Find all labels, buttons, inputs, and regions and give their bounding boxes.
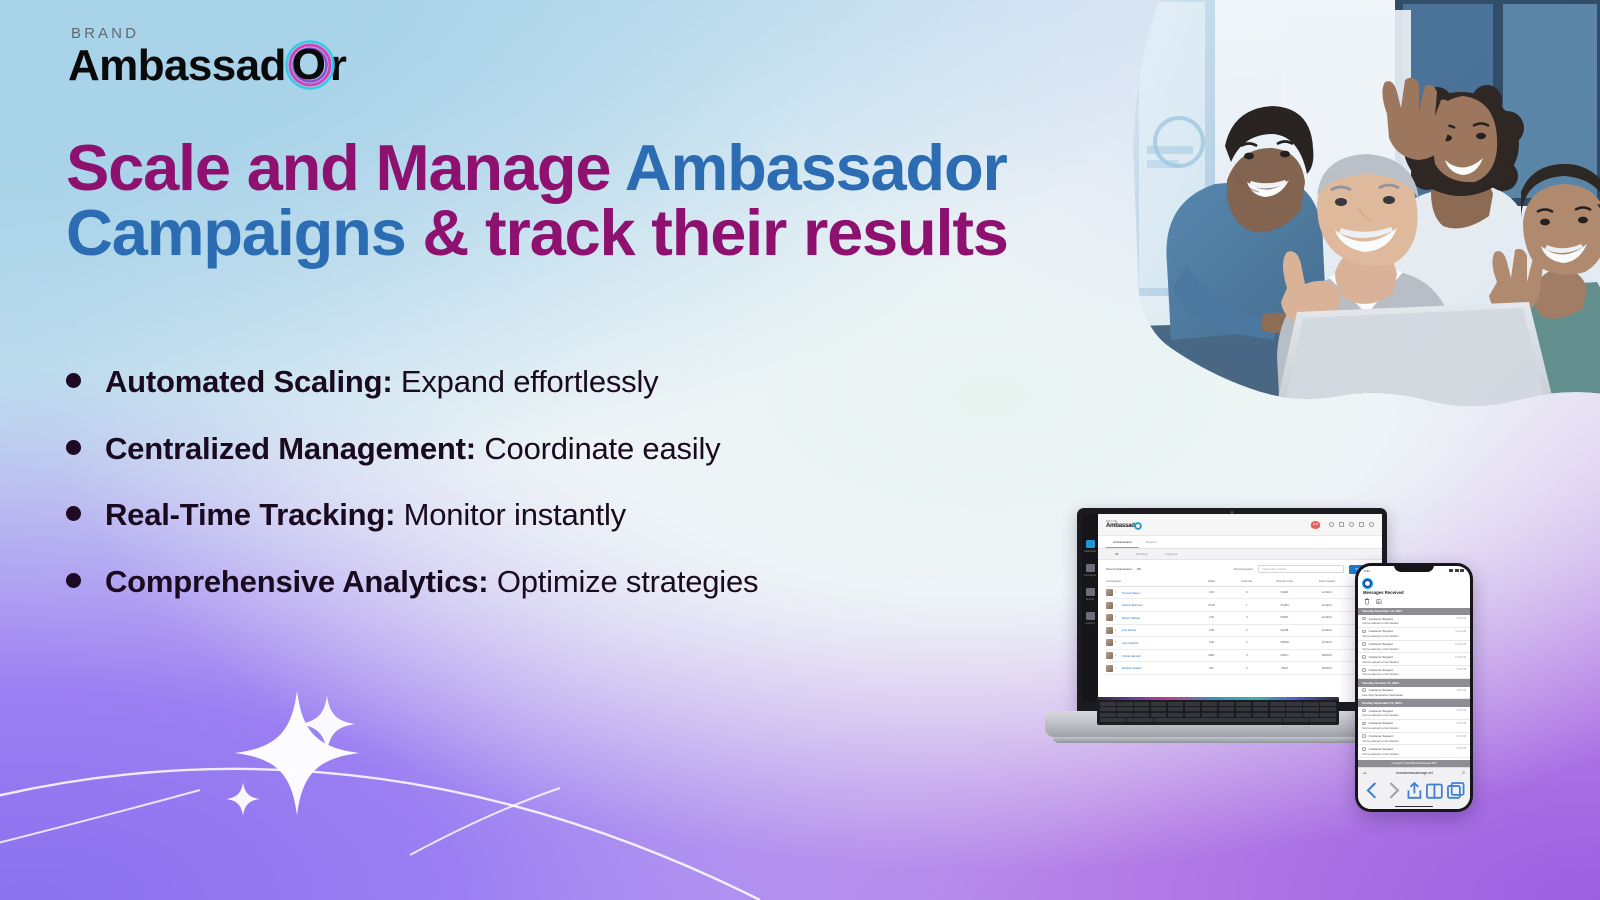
- key: [1202, 713, 1218, 717]
- message-time: 4:20 PM: [1456, 722, 1466, 725]
- compose-icon[interactable]: [1376, 598, 1382, 605]
- message-from: Customer Support: [1369, 617, 1454, 621]
- message-preview: You've earned a commission: [1362, 647, 1466, 651]
- row-avatar-cell: 7: [1106, 665, 1122, 672]
- tabs-icon[interactable]: [1445, 780, 1466, 801]
- key: [1253, 702, 1269, 706]
- home-indicator: [1358, 804, 1470, 809]
- message-from: Customer Support: [1369, 642, 1452, 646]
- message-preview: You've earned a commission: [1362, 739, 1466, 743]
- row-date: 09/20/21: [1306, 654, 1348, 657]
- sidebar-label-analytics: Analytics: [1082, 622, 1098, 625]
- message-from: Customer Support: [1369, 734, 1454, 738]
- app-controls: Total Ambassadors 54 All Ambassador Sear…: [1098, 560, 1382, 578]
- col-wallet: Wallet: [1193, 580, 1231, 583]
- message-preview: You've earned a commission: [1362, 621, 1466, 625]
- team-photo: [1131, 0, 1600, 436]
- key: [1185, 702, 1201, 706]
- phone-app-logo[interactable]: [1358, 575, 1470, 590]
- laptop-screen: Dashboard Campaigns Reports Analytics BR…: [1082, 514, 1382, 702]
- globe-icon[interactable]: [1329, 522, 1334, 527]
- select-radio[interactable]: [1362, 668, 1366, 672]
- message-time: 4:20 PM: [1456, 747, 1466, 750]
- list-item-label: Centralized Management:: [105, 431, 476, 466]
- row-wallet: 0.00: [1193, 616, 1231, 619]
- status-time: 9:41: [1364, 569, 1370, 573]
- select-radio[interactable]: [1362, 709, 1366, 713]
- list-item-text: Real-Time Tracking: Monitor instantly: [105, 497, 626, 533]
- app-logo-ring-icon: [1135, 523, 1141, 529]
- laptop-lid: Dashboard Campaigns Reports Analytics BR…: [1077, 508, 1387, 713]
- row-code: VR6GB: [1263, 641, 1305, 644]
- key: [1286, 707, 1302, 711]
- key: [1100, 702, 1116, 706]
- logo-word-pre: Ambassad: [68, 44, 286, 88]
- message-preview: You've earned a commission: [1362, 726, 1466, 730]
- messages-title: Messages Received: [1358, 590, 1470, 598]
- message-preview: You've earned a commission: [1362, 672, 1466, 676]
- row-referrals: 0: [1230, 591, 1263, 594]
- wifi-icon: [1455, 569, 1459, 572]
- message-preview: Last Stop Newsletter Newsletter: [1362, 693, 1466, 697]
- key: [1283, 718, 1309, 722]
- list-item[interactable]: Customer Support4:20 PM You've earned a …: [1358, 707, 1470, 720]
- key: [1117, 707, 1133, 711]
- select-radio[interactable]: [1362, 617, 1366, 621]
- search-input[interactable]: Search after 3 letters: [1258, 565, 1344, 573]
- message-from: Customer Support: [1369, 747, 1454, 751]
- app-subtabs: All Pending Payment: [1098, 549, 1382, 560]
- row-avatar-cell: 4: [1106, 627, 1122, 634]
- table-row[interactable]: 2 Gabriel Martinez 20.00 1 7GQB1 12/12/2…: [1106, 599, 1374, 612]
- message-top: Customer Support1:04 PM: [1362, 688, 1466, 692]
- app-logo[interactable]: BRAND Ambassad: [1106, 520, 1141, 529]
- key: [1151, 707, 1167, 711]
- list-item: Automated Scaling: Expand effortlessly: [66, 364, 1026, 400]
- feature-list: Automated Scaling: Expand effortlessly C…: [66, 364, 1026, 631]
- row-referrals: 0: [1230, 616, 1263, 619]
- laptop-touchbar: [1097, 697, 1339, 700]
- key: [1270, 713, 1286, 717]
- avatar: [1106, 627, 1113, 634]
- message-preview: You've earned a commission: [1362, 660, 1466, 664]
- tab-ambassadors[interactable]: Ambassadors: [1106, 536, 1139, 548]
- messages-list[interactable]: Tuesday November 12, 2024 Customer Suppo…: [1358, 608, 1470, 761]
- row-date: 12/12/21: [1306, 641, 1348, 644]
- key: [1219, 702, 1235, 706]
- phone-mockup: 9:41 Messages Received: [1355, 563, 1473, 812]
- row-date: 09/20/21: [1306, 667, 1348, 670]
- row-code: 3OqR1: [1263, 591, 1305, 594]
- key: [1236, 702, 1252, 706]
- list-item[interactable]: Customer Support4:20 PM You've earned a …: [1358, 745, 1470, 758]
- sidebar-label-reports: Reports: [1082, 598, 1098, 601]
- key: [1100, 707, 1116, 711]
- row-avatar-cell: 1: [1106, 589, 1122, 596]
- row-name[interactable]: Gabriel Martinez: [1122, 603, 1193, 607]
- key: [1168, 713, 1184, 717]
- row-wallet: 2K5: [1193, 667, 1231, 670]
- key: [1270, 702, 1286, 706]
- key: [1185, 707, 1201, 711]
- message-top: Customer Support9:45 AM: [1362, 617, 1466, 621]
- keyboard-row: [1100, 707, 1336, 711]
- message-time: 10:58 AM: [1455, 656, 1466, 659]
- app-sidebar: Dashboard Campaigns Reports Analytics: [1082, 514, 1098, 702]
- row-name[interactable]: Cristal Hannah: [1122, 654, 1193, 658]
- select-radio[interactable]: [1362, 630, 1366, 634]
- key: [1320, 707, 1336, 711]
- key: [1286, 713, 1302, 717]
- bullet-dot-icon: [66, 373, 81, 388]
- message-top: Customer Support11:04 AM: [1362, 629, 1466, 633]
- list-item-desc: Coordinate easily: [476, 431, 721, 466]
- row-avatar-cell: 6: [1106, 652, 1122, 659]
- select-radio[interactable]: [1362, 642, 1366, 646]
- row-name[interactable]: Robert Sabato: [1122, 616, 1193, 620]
- subtab-payment[interactable]: Payment: [1156, 549, 1186, 559]
- row-name[interactable]: Mariola Howard: [1122, 666, 1193, 670]
- row-wallet: 2PB1: [1193, 654, 1231, 657]
- message-time: 4:20 PM: [1456, 709, 1466, 712]
- forward-icon[interactable]: [1383, 780, 1404, 801]
- message-top: Customer Support4:20 PM: [1362, 721, 1466, 725]
- date-group-header: Tuesday October 15, 2024: [1358, 679, 1470, 687]
- message-from: Customer Support: [1369, 721, 1454, 725]
- row-date: 12/12/21: [1306, 591, 1348, 594]
- app-logo-text: Ambassad: [1106, 523, 1135, 529]
- message-top: Customer Support10:26 AM: [1362, 642, 1466, 646]
- message-top: Customer Support4:20 PM: [1362, 747, 1466, 751]
- trash-icon[interactable]: [1364, 598, 1370, 605]
- key: [1151, 702, 1167, 706]
- key: [1127, 718, 1153, 722]
- key: [1168, 702, 1184, 706]
- laptop-mockup: Dashboard Campaigns Reports Analytics BR…: [1045, 508, 1391, 763]
- headline-seg-1: Scale and Manage: [66, 131, 625, 204]
- message-from: Customer Support: [1369, 629, 1453, 633]
- keyboard-rows: [1100, 702, 1336, 724]
- message-preview: You've earned a commission: [1362, 634, 1466, 638]
- phone-notch: [1394, 563, 1434, 572]
- row-code: Z6AZ: [1263, 667, 1305, 670]
- row-index: 6: [1115, 654, 1116, 657]
- reload-icon[interactable]: ⟳: [1462, 771, 1465, 775]
- browser-nav-bar: [1358, 778, 1470, 804]
- list-item-desc: Monitor instantly: [395, 497, 626, 532]
- row-index: 3: [1115, 616, 1116, 619]
- logo-o-slot: O: [286, 44, 330, 88]
- key: [1320, 702, 1336, 706]
- settings-icon[interactable]: [1369, 522, 1374, 527]
- message-from: Customer Support: [1369, 709, 1454, 713]
- app-tabs: Ambassadors Reports: [1098, 536, 1382, 549]
- logo-letter-o: O: [292, 43, 326, 87]
- message-time: 4:18 PM: [1456, 668, 1466, 671]
- message-top: Customer Support4:18 PM: [1362, 668, 1466, 672]
- bullet-dot-icon: [66, 573, 81, 588]
- select-radio[interactable]: [1362, 688, 1366, 692]
- select-radio[interactable]: [1362, 722, 1366, 726]
- user-icon[interactable]: [1349, 522, 1354, 527]
- sidebar-item-campaigns[interactable]: [1086, 564, 1095, 572]
- key: [1117, 702, 1133, 706]
- key: [1236, 713, 1252, 717]
- app-logo-word: Ambassad: [1106, 523, 1141, 529]
- list-item-text: Comprehensive Analytics: Optimize strate…: [105, 564, 758, 600]
- row-date: 12/12/21: [1306, 629, 1348, 632]
- key: [1320, 713, 1336, 717]
- headline-seg-4: & track their results: [406, 196, 1008, 269]
- phone-body: 9:41 Messages Received: [1355, 563, 1473, 812]
- battery-icon: [1460, 569, 1464, 572]
- col-referral-code: Referral Code: [1263, 580, 1305, 583]
- laptop-base: [1045, 711, 1391, 737]
- tab-reports[interactable]: Reports: [1139, 536, 1164, 548]
- row-name[interactable]: Tamara Mason: [1122, 591, 1193, 595]
- list-item[interactable]: Customer Support10:26 AM You've earned a…: [1358, 641, 1470, 654]
- list-item[interactable]: Customer Support4:18 PM You've earned a …: [1358, 666, 1470, 679]
- row-index: 1: [1115, 591, 1116, 594]
- row-avatar-cell: 3: [1106, 614, 1122, 621]
- row-code: RuJ0B: [1263, 629, 1305, 632]
- row-wallet: 0.00: [1193, 641, 1231, 644]
- avatar: [1106, 614, 1113, 621]
- table-row[interactable]: 3 Robert Sabato 0.00 0 P5dR1 12/12/21 De…: [1106, 612, 1374, 625]
- keyboard-row: [1100, 718, 1336, 722]
- total-ambassadors-label: Total Ambassadors: [1106, 567, 1132, 571]
- subtab-pending[interactable]: Pending: [1127, 549, 1156, 559]
- row-referrals: 0: [1230, 667, 1263, 670]
- headline-line-1: Scale and Manage Ambassador: [66, 135, 1126, 200]
- keyboard-row: [1100, 702, 1336, 706]
- list-item: Centralized Management: Coordinate easil…: [66, 431, 1026, 467]
- browser-url-bar[interactable]: aA brandambassadorapp.net ⟳: [1358, 767, 1470, 778]
- key: [1236, 707, 1252, 711]
- status-indicators: [1449, 569, 1464, 572]
- headline-seg-3: Campaigns: [66, 196, 406, 269]
- message-preview: You've earned a commission: [1362, 713, 1466, 717]
- list-item[interactable]: Customer Support9:45 AM You've earned a …: [1358, 615, 1470, 628]
- team-photo-illustration: [1131, 0, 1600, 436]
- list-item-label: Comprehensive Analytics:: [105, 564, 488, 599]
- key: [1117, 713, 1133, 717]
- sparkle-medium-icon: [296, 693, 358, 755]
- row-referrals: 0: [1230, 641, 1263, 644]
- row-date: 12/12/21: [1306, 616, 1348, 619]
- row-referrals: 0: [1230, 654, 1263, 657]
- table-row[interactable]: 4 Luis Rivera 0.00 0 RuJ0B 12/12/21 Deta…: [1106, 625, 1374, 638]
- key: [1134, 702, 1150, 706]
- date-group-header: Sunday September 15, 2024: [1358, 699, 1470, 707]
- list-item[interactable]: Customer Support1:04 PM Last Stop Newsle…: [1358, 687, 1470, 700]
- key: [1202, 707, 1218, 711]
- message-time: 1:04 PM: [1456, 689, 1466, 692]
- key: [1310, 718, 1336, 722]
- message-top: Customer Support4:20 PM: [1362, 709, 1466, 713]
- share-icon[interactable]: [1404, 780, 1425, 801]
- spacebar: [1154, 718, 1282, 722]
- list-item[interactable]: Customer Support10:58 AM You've earned a…: [1358, 653, 1470, 666]
- bookmarks-icon[interactable]: [1424, 780, 1445, 801]
- key: [1168, 707, 1184, 711]
- table-row[interactable]: 5 Kyle Gallardo 0.00 0 VR6GB 12/12/21 De…: [1106, 637, 1374, 650]
- app-copyright: Copyright © 2024 Brand Ambassador APP: [1358, 760, 1470, 767]
- message-from: Customer Support: [1369, 688, 1454, 692]
- sidebar-item-reports[interactable]: [1086, 588, 1095, 596]
- row-avatar-cell: 2: [1106, 602, 1122, 609]
- keyboard-row: [1100, 713, 1336, 717]
- key: [1253, 713, 1269, 717]
- header-brandmark-icon: [1309, 520, 1322, 530]
- url-text[interactable]: brandambassadorapp.net: [1370, 771, 1459, 775]
- row-wallet: 20.00: [1193, 604, 1231, 607]
- date-group-header: Tuesday November 12, 2024: [1358, 608, 1470, 616]
- text-size-icon[interactable]: aA: [1363, 771, 1367, 775]
- table-row[interactable]: 7 Mariola Howard 2K5 0 Z6AZ 09/20/21 Det…: [1106, 662, 1374, 675]
- key: [1100, 718, 1126, 722]
- header-icons: [1329, 522, 1374, 527]
- key: [1134, 713, 1150, 717]
- message-time: 10:26 AM: [1455, 643, 1466, 646]
- sidebar-label-campaigns: Campaigns: [1082, 574, 1098, 577]
- key: [1303, 713, 1319, 717]
- list-item: Real-Time Tracking: Monitor instantly: [66, 497, 1026, 533]
- headline-line-2: Campaigns & track their results: [66, 200, 1126, 265]
- key: [1202, 702, 1218, 706]
- message-top: Customer Support10:58 AM: [1362, 655, 1466, 659]
- app-header: BRAND Ambassad: [1098, 514, 1382, 536]
- row-index: 5: [1115, 641, 1116, 644]
- avatar: [1106, 589, 1113, 596]
- avatar: [1106, 639, 1113, 646]
- avatar: [1106, 602, 1113, 609]
- row-name[interactable]: Luis Rivera: [1122, 628, 1193, 632]
- logo-wordmark: Ambassad O r: [68, 44, 346, 88]
- message-preview: You've earned a commission: [1362, 752, 1466, 756]
- subtab-all[interactable]: All: [1106, 549, 1127, 559]
- app-ring-logo-icon: [1363, 579, 1372, 588]
- key: [1100, 713, 1116, 717]
- list-item[interactable]: Customer Support4:20 PM You've earned a …: [1358, 720, 1470, 733]
- col-date-created: Date Created: [1306, 580, 1348, 583]
- key: [1185, 713, 1201, 717]
- phone-screen: 9:41 Messages Received: [1358, 566, 1470, 809]
- sidebar-item-analytics[interactable]: [1086, 612, 1095, 620]
- table-row[interactable]: 6 Cristal Hannah 2PB1 0 VF6Gn 09/20/21 D…: [1106, 650, 1374, 663]
- message-from: Customer Support: [1369, 668, 1454, 672]
- key: [1219, 713, 1235, 717]
- row-name[interactable]: Kyle Gallardo: [1122, 641, 1193, 645]
- row-wallet: 0.00: [1193, 629, 1231, 632]
- row-code: P5dR1: [1263, 616, 1305, 619]
- total-ambassadors-value: 54: [1137, 567, 1140, 571]
- message-time: 4:20 PM: [1456, 735, 1466, 738]
- headline-seg-2: Ambassador: [625, 131, 1007, 204]
- row-avatar-cell: 5: [1106, 639, 1122, 646]
- page-title: Scale and Manage Ambassador Campaigns & …: [66, 135, 1126, 265]
- laptop-keyboard: [1097, 697, 1339, 725]
- key: [1303, 702, 1319, 706]
- list-item[interactable]: Customer Support4:20 PM You've earned a …: [1358, 733, 1470, 746]
- sidebar-label-dashboard: Dashboard: [1082, 550, 1098, 553]
- brand-logo[interactable]: BRAND Ambassad O r: [68, 26, 346, 88]
- col-ambassador: Ambassador: [1106, 580, 1122, 583]
- list-item: Comprehensive Analytics: Optimize strate…: [66, 564, 1026, 600]
- home-bar: [1395, 806, 1433, 808]
- filter-label: All Ambassador: [1234, 567, 1253, 571]
- bullet-dot-icon: [66, 440, 81, 455]
- select-radio[interactable]: [1362, 747, 1366, 751]
- list-item-label: Automated Scaling:: [105, 364, 392, 399]
- message-from: Customer Support: [1369, 655, 1452, 659]
- row-wallet: 0.00: [1193, 591, 1231, 594]
- mail-icon[interactable]: [1339, 522, 1344, 527]
- key: [1253, 707, 1269, 711]
- key: [1151, 713, 1167, 717]
- row-index: 2: [1115, 604, 1116, 607]
- row-referrals: 1: [1230, 604, 1263, 607]
- sidebar-item-dashboard[interactable]: [1086, 540, 1095, 548]
- row-referrals: 0: [1230, 629, 1263, 632]
- sparkle-small-icon: [224, 780, 262, 818]
- key: [1286, 702, 1302, 706]
- row-index: 7: [1115, 667, 1116, 670]
- select-radio[interactable]: [1362, 655, 1366, 659]
- key: [1270, 707, 1286, 711]
- message-time: 11:04 AM: [1455, 630, 1466, 633]
- row-code: VF6Gn: [1263, 654, 1305, 657]
- upload-icon[interactable]: [1359, 522, 1364, 527]
- list-item-text: Automated Scaling: Expand effortlessly: [105, 364, 658, 400]
- row-code: 7GQB1: [1263, 604, 1305, 607]
- app-main: BRAND Ambassad: [1098, 514, 1382, 702]
- message-actions: [1358, 598, 1470, 608]
- signal-icon: [1449, 569, 1453, 572]
- row-date: 12/12/21: [1306, 604, 1348, 607]
- avatar: [1106, 665, 1113, 672]
- avatar: [1106, 652, 1113, 659]
- key: [1303, 707, 1319, 711]
- list-item-desc: Optimize strategies: [488, 564, 758, 599]
- list-item[interactable]: Customer Support11:04 AM You've earned a…: [1358, 628, 1470, 641]
- bullet-dot-icon: [66, 506, 81, 521]
- back-icon[interactable]: [1362, 780, 1383, 801]
- key: [1219, 707, 1235, 711]
- table-header-row: Ambassador Wallet Referrals Referral Cod…: [1106, 578, 1374, 587]
- list-item-label: Real-Time Tracking:: [105, 497, 395, 532]
- list-item-desc: Expand effortlessly: [392, 364, 658, 399]
- table-row[interactable]: 1 Tamara Mason 0.00 0 3OqR1 12/12/21 Det…: [1106, 587, 1374, 600]
- message-top: Customer Support4:20 PM: [1362, 734, 1466, 738]
- ambassadors-table: Ambassador Wallet Referrals Referral Cod…: [1098, 578, 1382, 675]
- list-item-text: Centralized Management: Coordinate easil…: [105, 431, 720, 467]
- laptop-foot: [1053, 737, 1383, 743]
- message-time: 9:45 AM: [1456, 617, 1466, 620]
- key: [1134, 707, 1150, 711]
- col-referrals: Referrals: [1230, 580, 1263, 583]
- row-index: 4: [1115, 629, 1116, 632]
- select-radio[interactable]: [1362, 734, 1366, 738]
